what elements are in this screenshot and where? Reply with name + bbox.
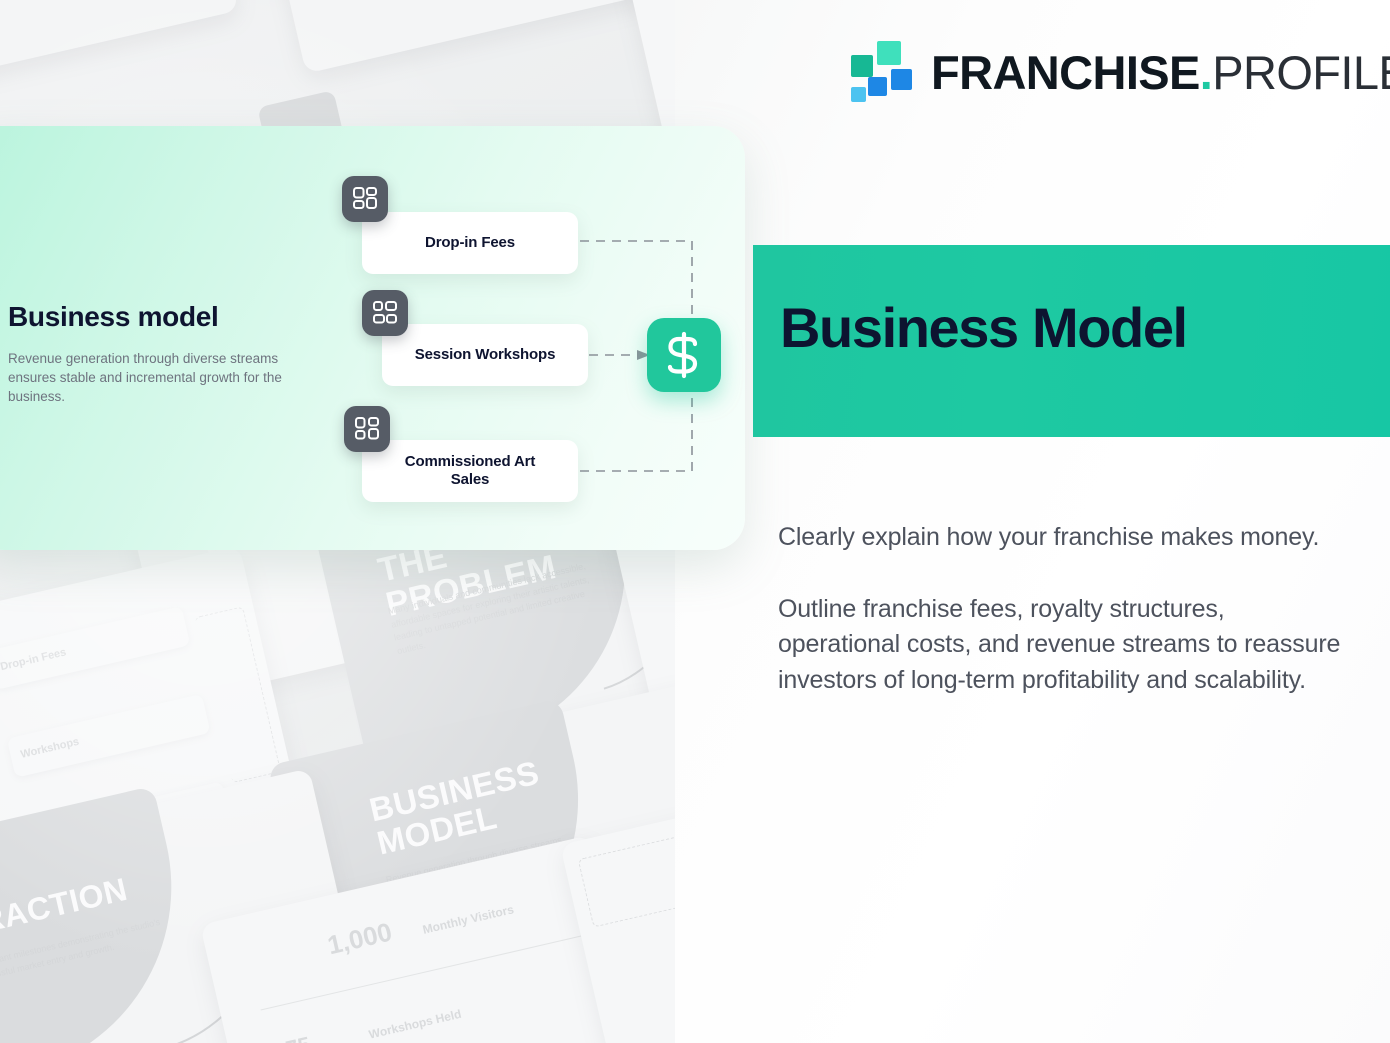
revenue-node-commissioned-art-sales[interactable]: Commissioned Art Sales — [362, 440, 578, 502]
description-paragraph-1: Clearly explain how your franchise makes… — [778, 520, 1350, 556]
dollar-sign-icon[interactable] — [647, 318, 721, 392]
logo-text-thin: PROFILES — [1212, 49, 1390, 96]
page-title: Business Model — [780, 295, 1187, 360]
brand-logo[interactable]: FRANCHISE . PROFILES — [851, 41, 1390, 103]
logo-text-dot: . — [1200, 49, 1212, 96]
logo-squares-icon — [851, 41, 913, 103]
grid-dashboard-icon — [362, 290, 408, 336]
description-paragraph-2: Outline franchise fees, royalty structur… — [778, 592, 1350, 699]
description-block: Clearly explain how your franchise makes… — [778, 520, 1350, 698]
slide-canvas: KET spaces in urban and a substantial Ma… — [0, 0, 1390, 1043]
revenue-streams-diagram: Drop-in Fees Session Workshops — [0, 126, 745, 550]
revenue-node-label: Session Workshops — [415, 346, 556, 364]
revenue-node-drop-in-fees[interactable]: Drop-in Fees — [362, 212, 578, 274]
business-model-card: Business model Revenue generation throug… — [0, 126, 745, 550]
revenue-node-label: Commissioned Art Sales — [405, 453, 535, 489]
revenue-node-session-workshops[interactable]: Session Workshops — [382, 324, 588, 386]
grid-dashboard-icon — [342, 176, 388, 222]
section-title-band: Business Model — [753, 245, 1390, 437]
grid-dashboard-icon — [344, 406, 390, 452]
revenue-node-label: Drop-in Fees — [425, 234, 515, 252]
logo-text-bold: FRANCHISE — [931, 49, 1200, 96]
